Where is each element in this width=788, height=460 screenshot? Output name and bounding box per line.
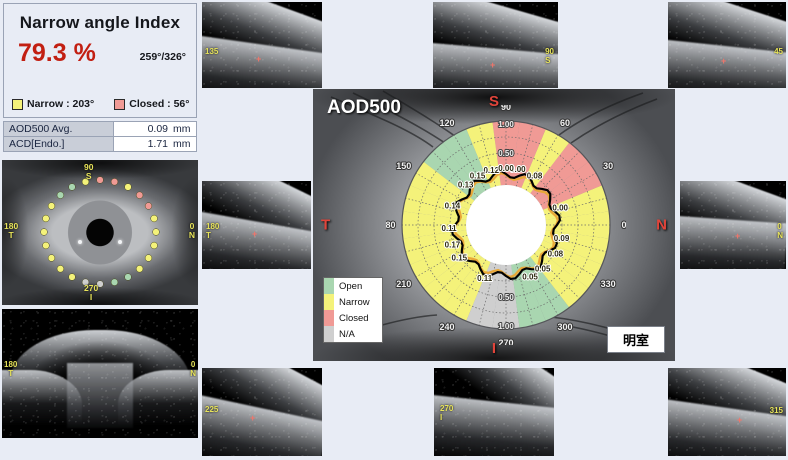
speckle-noise [202,2,322,88]
oct-thumb-225[interactable]: + 225 [202,368,322,456]
oct-thumb-315[interactable]: + 315 [668,368,786,456]
na-swatch-icon [324,326,334,342]
narrow-angle-index-range: 259°/326° [140,51,186,63]
legend-label-closed: Closed : 56° [129,98,189,110]
polar-radial-tick: 1.00 [498,120,514,129]
metric-number: 0.09 [148,123,168,135]
oct-thumb-0[interactable]: + 0N [680,181,786,269]
iris-angle-dot-240[interactable] [69,274,76,281]
angle-marker-icon: + [735,234,740,239]
iris-photo-panel[interactable]: 90S 180T 0N 270I [2,160,198,305]
angle-marker-icon: + [250,416,255,421]
aod500-status-legend: Open Narrow Closed N/A [323,277,383,343]
oct-thumb-label: 135 [205,48,218,57]
iris-angle-dot-330[interactable] [145,255,152,262]
room-condition-badge: 明室 [607,326,665,353]
angle-marker-icon: + [737,418,742,423]
oct-thumb-45[interactable]: + 45 [668,2,786,88]
speckle-noise [202,368,322,456]
oct-thumb-image [433,2,558,88]
iris-angle-dot-165[interactable] [43,215,50,222]
aod-value-label: 0.09 [554,234,570,243]
oct-thumb-270[interactable]: 270I [434,368,554,456]
iris-angle-dot-30[interactable] [145,203,152,210]
iris-angle-dot-135[interactable] [57,192,64,199]
open-swatch-icon [324,278,334,294]
oct-thumb-label: 180T [206,223,219,240]
angle-marker-icon: + [252,232,257,237]
polar-radial-tick: 0.50 [498,293,514,302]
polar-angle-tick-150: 150 [396,161,411,171]
polar-angle-tick-300: 300 [557,322,572,332]
oct-thumb-label: 315 [770,407,783,416]
legend-item-na: N/A [324,326,382,342]
metric-key-acd-endo: ACD[Endo.] [4,137,114,152]
aod-value-label: 0.15 [452,254,468,263]
iris-angle-dot-150[interactable] [48,203,55,210]
iris-angle-dot-180[interactable] [41,229,48,236]
aod-value-label: 0.15 [470,172,486,181]
angle-marker-icon: + [256,57,261,62]
oct-thumb-180[interactable]: + 180T [202,181,311,269]
oct-thumb-label: 225 [205,406,218,415]
polar-angle-tick-120: 120 [439,118,454,128]
iris-angle-dot-15[interactable] [151,215,158,222]
polar-radial-tick: 0.50 [498,149,514,158]
iris-angle-dot-60[interactable] [125,184,132,191]
iris-angle-dot-75[interactable] [111,178,118,185]
legend-label-narrow: Narrow : 203° [27,98,94,110]
casia-aod500-report: Narrow angle Index 79.3 % 259°/326° Narr… [0,0,788,460]
iris-orientation-inferior: 270I [84,284,98,302]
legend-label-na: N/A [334,329,355,340]
iris-angle-dot-315[interactable] [136,265,143,272]
aod-value-label: 0.08 [527,172,543,181]
speckle-noise [680,181,786,269]
oct-thumb-image [668,368,786,456]
metric-number: 1.71 [148,138,168,150]
legend-label-open: Open [334,281,362,292]
left-column: Narrow angle Index 79.3 % 259°/326° Narr… [0,0,200,460]
polar-angle-tick-330: 330 [601,279,616,289]
iris-angle-dot-overlay [2,160,198,305]
iris-angle-dot-90[interactable] [97,177,104,184]
aod-value-label: 0.00 [552,203,568,212]
oct-thumb-label: 0N [777,223,783,240]
oct-bscan-main[interactable]: 180T 0N [2,309,198,438]
metric-unit: mm [168,138,190,150]
oct-label-temporal: 180T [4,361,17,378]
polar-angle-tick-240: 240 [439,322,454,332]
iris-orientation-nasal: 0N [189,222,195,240]
iris-angle-dot-45[interactable] [136,192,143,199]
oct-thumb-135[interactable]: + 135 [202,2,322,88]
aod-value-label: 0.17 [445,240,461,249]
aod-value-label: 0.12 [483,166,499,175]
narrow-swatch-icon [324,294,334,310]
aod500-polar-map-panel[interactable]: AOD500 S T N I 0.501.000.501.00 03060901… [313,89,675,361]
measurements-table: AOD500 Avg. 0.09mm ACD[Endo.] 1.71mm [3,121,197,152]
legend-label-closed: Closed [334,313,369,324]
aod-value-label: 0.05 [535,265,551,274]
orientation-label-nasal: N [656,217,667,234]
table-row: AOD500 Avg. 0.09mm [4,122,197,137]
iris-angle-dot-345[interactable] [151,242,158,249]
oct-thumb-label: 90S [545,48,554,65]
polar-radial-tick: 1.00 [498,322,514,331]
polar-angle-tick-90: 90 [501,105,511,112]
polar-angle-tick-270: 270 [498,338,513,345]
aod-value-label: 0.00 [498,164,514,173]
metric-unit: mm [168,123,190,135]
oct-thumb-90[interactable]: + 90S [433,2,558,88]
iris-orientation-temporal: 180T [4,222,18,240]
iris-angle-dot-300[interactable] [125,274,132,281]
oct-thumb-label: 270I [440,405,453,422]
iris-angle-dot-0[interactable] [153,229,160,236]
legend-item-closed: Closed [324,310,382,326]
oct-thumb-image [202,368,322,456]
iris-angle-dot-195[interactable] [43,242,50,249]
legend-item-narrow: Narrow [324,294,382,310]
polar-angle-tick-60: 60 [560,118,570,128]
aod-value-label: 0.08 [548,250,564,259]
legend-item-closed: Closed : 56° [114,98,189,110]
narrow-angle-index-value: 79.3 % [18,39,96,68]
polar-angle-tick-30: 30 [603,161,613,171]
angle-marker-icon: + [721,59,726,64]
aod-value-label: 0.13 [458,181,474,190]
metric-key-aod500-avg: AOD500 Avg. [4,122,114,137]
polar-angle-tick-180: 180 [386,220,396,230]
speckle-noise [433,2,558,88]
orientation-label-temporal: T [321,217,330,234]
metric-value-aod500-avg: 0.09mm [114,122,197,137]
oct-label-nasal: 0N [190,361,196,378]
aod-value-label: 0.14 [445,202,461,211]
legend-label-narrow: Narrow [334,297,370,308]
closed-swatch-icon [324,310,334,326]
speckle-noise [2,309,198,438]
narrow-angle-index-card: Narrow angle Index 79.3 % 259°/326° Narr… [3,3,197,118]
iris-angle-dot-285[interactable] [111,279,118,286]
iris-angle-dot-120[interactable] [69,184,76,191]
legend-item-narrow: Narrow : 203° [12,98,94,110]
polar-angle-tick-210: 210 [396,279,411,289]
metric-value-acd-endo: 1.71mm [114,137,197,152]
oct-thumb-label: 45 [774,48,783,57]
page-title: Narrow angle Index [4,13,196,33]
aod-value-label: 0.11 [477,274,493,283]
aod500-polar-chart[interactable]: 0.501.000.501.00 03060901201501802102402… [386,105,626,345]
legend-item-open: Open [324,278,382,294]
oct-thumb-image [680,181,786,269]
polar-center-hole [466,185,546,265]
speckle-noise [668,368,786,456]
iris-angle-dot-210[interactable] [48,255,55,262]
polar-angle-tick-0: 0 [621,220,626,230]
oct-thumb-image [668,2,786,88]
narrow-swatch-icon [12,99,23,110]
table-row: ACD[Endo.] 1.71mm [4,137,197,152]
iris-orientation-superior: 90S [84,163,93,181]
oct-thumb-image [202,2,322,88]
closed-swatch-icon [114,99,125,110]
angle-marker-icon: + [490,63,495,68]
speckle-noise [668,2,786,88]
aod-value-label: 0.05 [522,273,538,282]
polar-center-disc [466,185,546,265]
polar-chart-svg: 0.501.000.501.00 03060901201501802102402… [386,105,626,345]
angle-status-legend: Narrow : 203° Closed : 56° [4,98,196,110]
narrow-angle-index-row: 79.3 % 259°/326° [4,39,196,81]
aod-value-label: 0.11 [442,224,458,233]
iris-angle-dot-225[interactable] [57,265,64,272]
